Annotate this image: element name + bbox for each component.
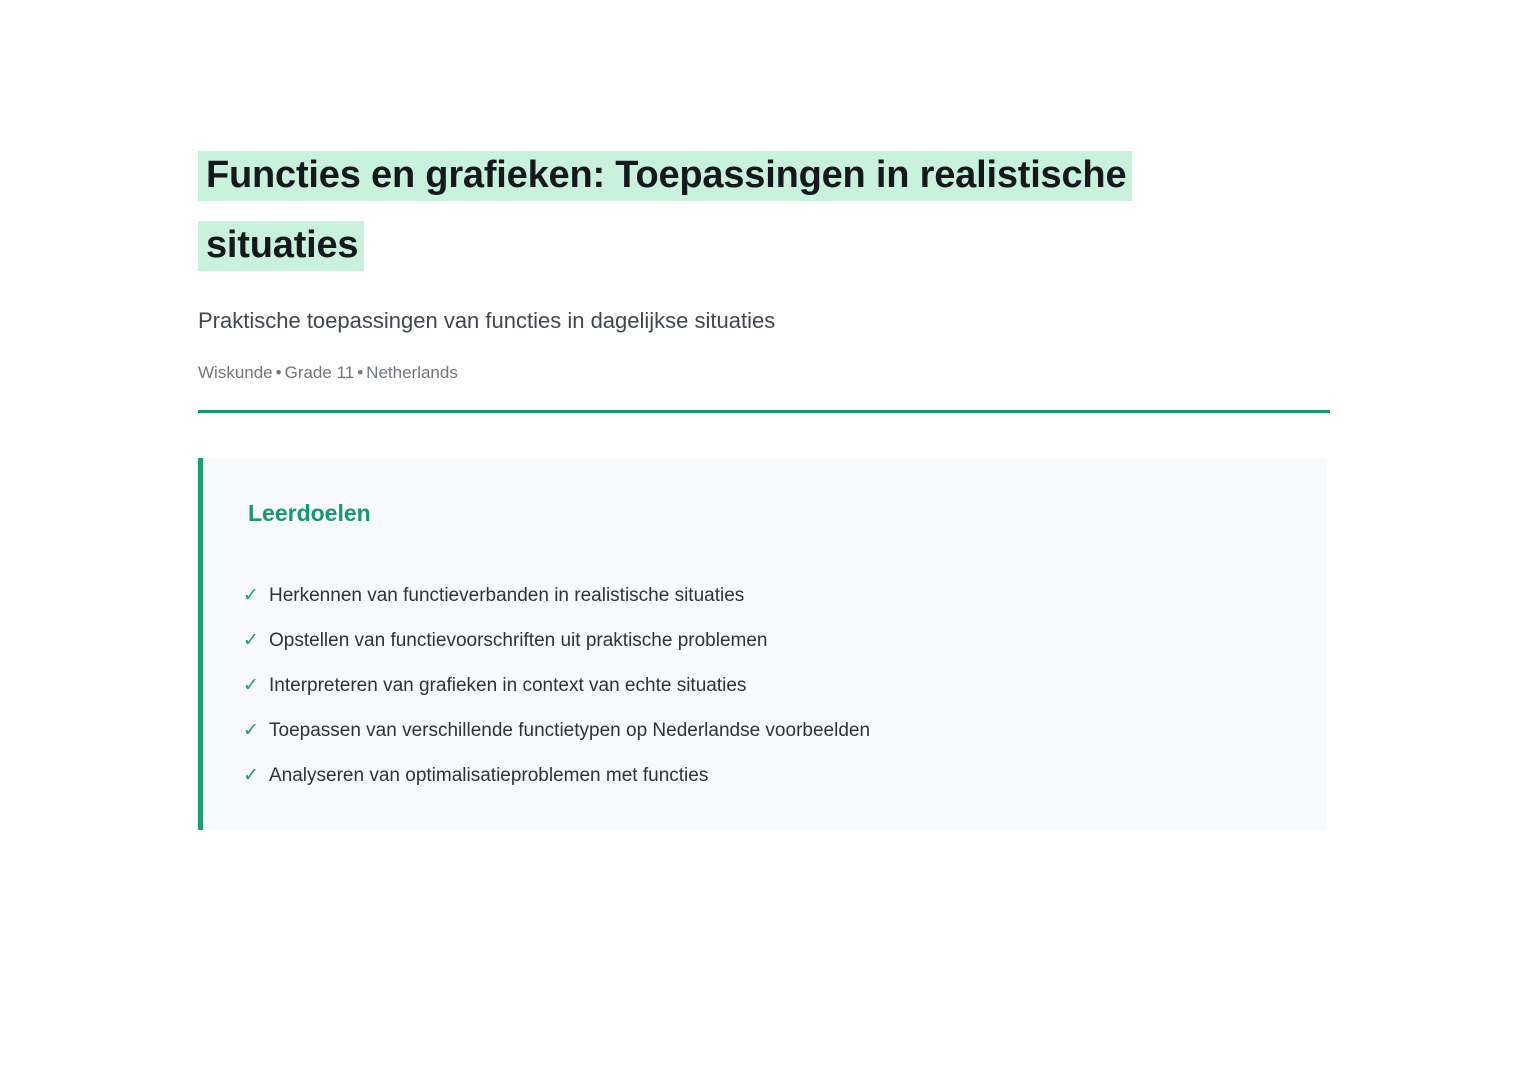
list-item: ✓ Analyseren van optimalisatieproblemen … [243, 763, 1327, 788]
header-divider [198, 410, 1330, 413]
meta-separator-2: • [357, 363, 363, 382]
list-item-label: Toepassen van verschillende functietypen… [269, 718, 1327, 743]
list-item-label: Interpreteren van grafieken in context v… [269, 673, 1327, 698]
document-page: Functies en grafieken: Toepassingen in r… [0, 0, 1527, 1080]
page-title-highlight: Functies en grafieken: Toepassingen in r… [198, 151, 1132, 271]
check-icon: ✓ [243, 628, 269, 653]
meta-separator-1: • [276, 363, 282, 382]
list-item: ✓ Herkennen van functieverbanden in real… [243, 583, 1327, 608]
page-subtitle: Praktische toepassingen van functies in … [198, 306, 1330, 336]
learning-objectives-heading: Leerdoelen [203, 458, 1327, 528]
learning-objectives-list: ✓ Herkennen van functieverbanden in real… [203, 528, 1327, 788]
document-content: Functies en grafieken: Toepassingen in r… [198, 140, 1330, 830]
learning-objectives-card: Leerdoelen ✓ Herkennen van functieverban… [198, 458, 1327, 830]
list-item-label: Analyseren van optimalisatieproblemen me… [269, 763, 1327, 788]
page-title: Functies en grafieken: Toepassingen in r… [198, 140, 1198, 280]
document-meta: Wiskunde•Grade 11•Netherlands [198, 362, 1330, 384]
meta-country: Netherlands [366, 363, 458, 382]
check-icon: ✓ [243, 583, 269, 608]
list-item: ✓ Opstellen van functievoorschriften uit… [243, 628, 1327, 653]
check-icon: ✓ [243, 718, 269, 743]
meta-subject: Wiskunde [198, 363, 273, 382]
list-item: ✓ Toepassen van verschillende functietyp… [243, 718, 1327, 743]
meta-grade: Grade 11 [285, 363, 355, 382]
list-item-label: Opstellen van functievoorschriften uit p… [269, 628, 1327, 653]
list-item: ✓ Interpreteren van grafieken in context… [243, 673, 1327, 698]
check-icon: ✓ [243, 673, 269, 698]
list-item-label: Herkennen van functieverbanden in realis… [269, 583, 1327, 608]
check-icon: ✓ [243, 763, 269, 788]
